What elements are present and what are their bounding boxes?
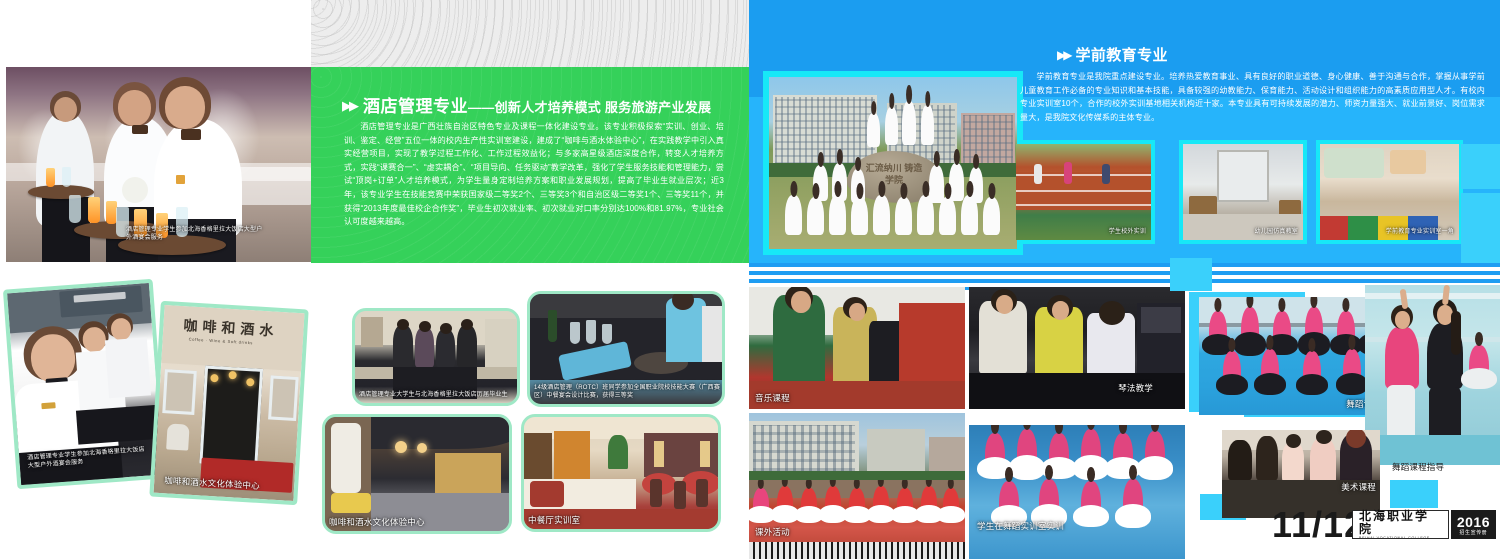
college-name-cn: 北海职业学院 [1359,510,1442,536]
college-logo: 北海职业学院 BEIHAI VOCATIONAL COLLEGE 2016 招生… [1352,510,1496,539]
footer-branding: 11/12 北海职业学院 BEIHAI VOCATIONAL COLLEGE 2… [1272,505,1496,550]
brochure-spread: 酒店管理专业学生参加北海香格里拉大饭店大型户外酒宴会服务 ▶▶酒店管理专业——创… [0,0,1500,559]
divider-stripe-3 [749,279,1500,283]
cyan-decor-block-1 [1461,144,1500,189]
hotel-management-subtitle: ——创新人才培养模式 服务旅游产业发展 [468,100,711,115]
photo-dance-lab: 学生在舞蹈实训室实训 [969,425,1185,559]
photo-caption-contest: 14级酒店管理（ROTC）班同学参加全国职业院校技能大赛（广西赛区）中餐宴会设计… [534,385,724,400]
hotel-management-body-text: 酒店管理专业是广西壮族自治区特色专业及课程一体化建设专业。该专业积极探索“实训、… [344,120,724,229]
photo-dance-course: 舞蹈课程 [1199,297,1389,415]
double-arrow-icon-2: ▶▶ [1057,48,1069,62]
photo-preschool-lab: 学前教育专业实训室一角 [1320,144,1459,240]
year-tagline: 招生宣传册 [1459,530,1487,536]
photo-hero-banquet: 酒店管理专业学生参加北海香格里拉大饭店大型户外酒宴会服务 [6,67,311,262]
photo-preschool-classroom: 幼儿园仿真教室 [1183,144,1303,240]
photo-hotel-staff: 酒店管理专业学生参加北海香格里拉大饭店大型户外酒宴会服务 [3,279,167,489]
college-name-block: 北海职业学院 BEIHAI VOCATIONAL COLLEGE [1352,510,1449,539]
photo-dance-guidance [1365,285,1500,465]
cyan-decor-block-3 [1170,258,1212,291]
rock-inscription: 汇流纳川 铸造学院 [864,162,924,188]
hotel-management-heading: ▶▶酒店管理专业——创新人才培养模式 服务旅游产业发展 [342,92,742,117]
preschool-education-body-text: 学前教育专业是我院重点建设专业。培养热爱教育事业、具有良好的职业道德、身心健康、… [1020,70,1485,124]
photo-preschool-outdoor: 学生校外实训 [1016,144,1151,240]
photo-restaurant: 中餐厅实训室 [521,414,721,532]
divider-stripe-2 [749,271,1500,275]
photo-contest: 14级酒店管理（ROTC）班同学参加全国职业院校技能大赛（广西赛区）中餐宴会设计… [527,291,725,407]
preschool-education-heading: ▶▶学前教育专业 [1057,44,1168,65]
photo-extracurricular: 课外活动 [749,480,965,559]
photo-student-group: 汇流纳川 铸造学院 [769,77,1017,249]
cyan-decor-block-8 [1390,480,1438,508]
year-value: 2016 [1457,515,1490,530]
college-name-en: BEIHAI VOCATIONAL COLLEGE [1359,536,1442,541]
hotel-management-title: 酒店管理专业 [363,97,468,116]
double-arrow-icon: ▶▶ [342,98,356,113]
photo-graduates: 酒店管理专业大学生与北海香格里拉大饭店历届毕业生 [352,308,520,406]
photo-caption-extracurricular: 课外活动 [755,527,790,537]
cyan-decor-block-2 [1461,193,1500,263]
hotel-management-panel: ▶▶酒店管理专业——创新人才培养模式 服务旅游产业发展 酒店管理专业是广西壮族自… [311,67,749,263]
photo-music-course: 音乐课程 [749,287,965,409]
photo-piano-teaching: 琴法教学 [969,287,1185,409]
preschool-education-title: 学前教育专业 [1075,47,1167,64]
photo-coffee-center: 咖啡和酒水 Coffee · Wine & Soft drinks 咖啡和酒水文… [149,301,308,505]
year-badge: 2016 招生宣传册 [1451,510,1496,539]
decorative-texture-strip [311,0,749,67]
photo-lobby: 咖啡和酒水文化体验中心 [322,414,512,534]
divider-stripe-1 [749,263,1500,267]
